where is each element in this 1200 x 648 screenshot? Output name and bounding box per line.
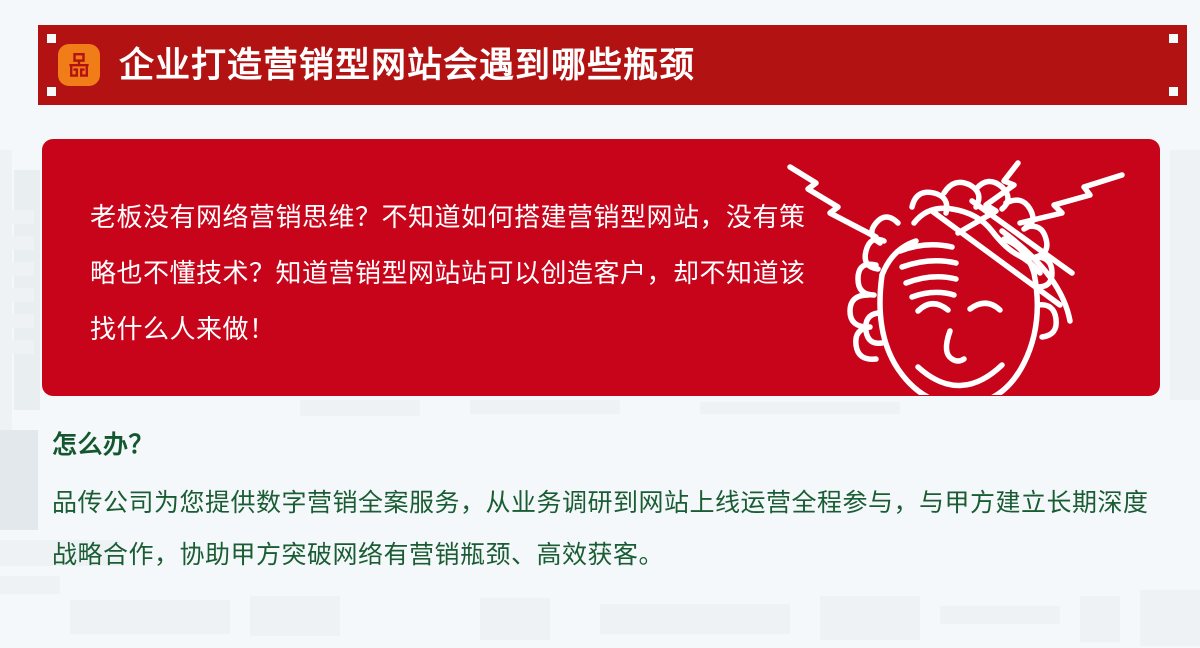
problem-card: 老板没有网络营销思维？不知道如何搭建营销型网站，没有策略也不懂技术？知道营销型网… [42, 139, 1160, 396]
corner-mark-top-right [1169, 34, 1178, 43]
solution-body-text: 品传公司为您提供数字营销全案服务，从业务调研到网站上线运营全程参与，与甲方建立长… [52, 477, 1162, 581]
solution-heading: 怎么办？ [52, 425, 1162, 465]
page-title: 企业打造营销型网站会遇到哪些瓶颈 [119, 48, 695, 83]
headache-person-illustration [772, 145, 1142, 395]
problem-statement-text: 老板没有网络营销思维？不知道如何搭建营销型网站，没有策略也不懂技术？知道营销型网… [52, 189, 822, 357]
header-banner: 企业打造营销型网站会遇到哪些瓶颈 [38, 25, 1187, 105]
brand-logo-icon [58, 44, 100, 86]
corner-mark-bottom-right [1169, 87, 1178, 96]
corner-mark-bottom-left [47, 87, 56, 96]
corner-mark-top-left [47, 34, 56, 43]
solution-block: 怎么办？ 品传公司为您提供数字营销全案服务，从业务调研到网站上线运营全程参与，与… [52, 425, 1162, 581]
